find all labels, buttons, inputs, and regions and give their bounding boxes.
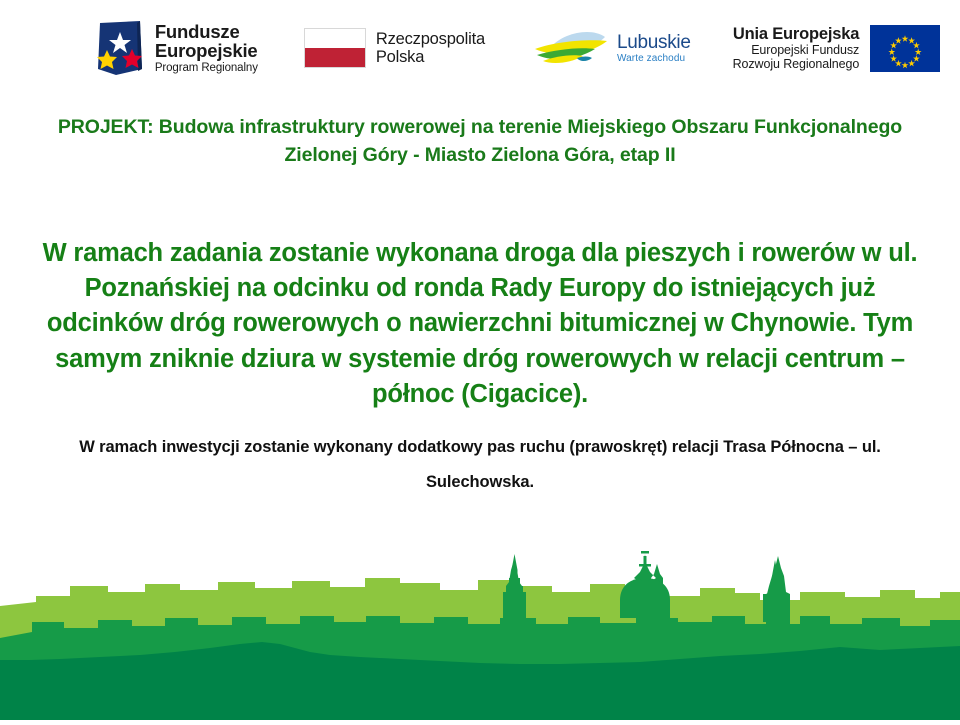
ue-line-3: Rozwoju Regionalnego	[733, 57, 860, 71]
european-union-flag-icon	[870, 25, 940, 72]
flag-stripe-white	[305, 29, 365, 48]
fe-line-2: Europejskie	[155, 41, 258, 60]
logo-lubuskie: Lubuskie Warte zachodu	[533, 25, 691, 71]
logo-bar: Fundusze Europejskie Program Regionalny …	[0, 0, 960, 96]
description-black-paragraph: W ramach inwestycji zostanie wykonany do…	[70, 430, 890, 501]
lubuskie-text: Lubuskie Warte zachodu	[617, 33, 691, 64]
fundusze-europejskie-mark-icon	[94, 19, 146, 77]
page-title: PROJEKT: Budowa infrastruktury rowerowej…	[48, 114, 912, 169]
fundusze-europejskie-text: Fundusze Europejskie Program Regionalny	[155, 22, 258, 75]
ue-line-1: Unia Europejska	[733, 25, 859, 43]
ue-line-2: Europejski Fundusz	[751, 43, 859, 57]
poland-flag-icon	[304, 28, 366, 68]
lubuskie-line-1: Lubuskie	[617, 33, 691, 52]
lubuskie-swoosh-icon	[533, 25, 611, 71]
fe-line-1: Fundusze	[155, 22, 258, 41]
rzeczpospolita-polska-text: Rzeczpospolita Polska	[376, 30, 485, 67]
rp-line-1: Rzeczpospolita	[376, 30, 485, 48]
logo-fundusze-europejskie: Fundusze Europejskie Program Regionalny	[94, 19, 258, 77]
lubuskie-line-2: Warte zachodu	[617, 54, 691, 64]
logo-unia-europejska: Unia Europejska Europejski Fundusz Rozwo…	[733, 25, 941, 72]
fe-line-3: Program Regionalny	[155, 62, 258, 74]
logo-rzeczpospolita-polska: Rzeczpospolita Polska	[304, 28, 485, 68]
unia-europejska-text: Unia Europejska Europejski Fundusz Rozwo…	[733, 25, 860, 71]
flag-stripe-red	[305, 48, 365, 67]
skyline-graphic	[0, 520, 960, 720]
rp-line-2: Polska	[376, 48, 485, 66]
description-green-paragraph: W ramach zadania zostanie wykonana droga…	[40, 236, 920, 412]
